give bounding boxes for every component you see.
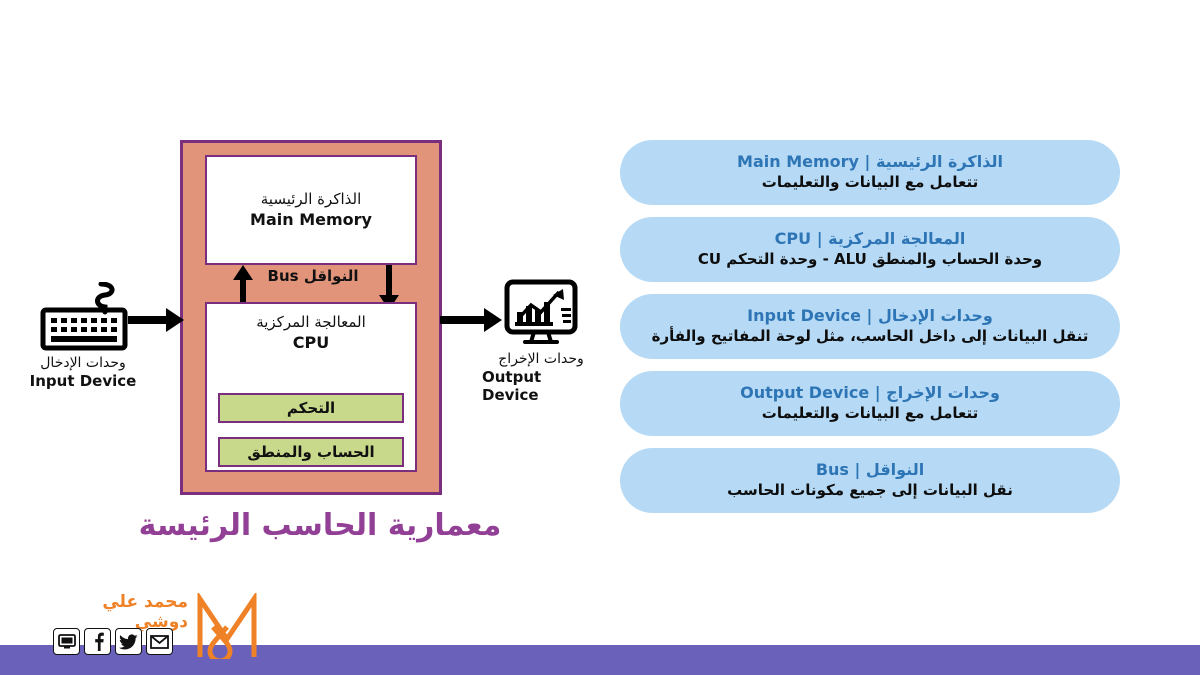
twitter-icon[interactable] — [115, 628, 142, 655]
legend-head: وحدات الإدخال | Input Device — [747, 306, 993, 327]
legend-item-output-device[interactable]: وحدات الإخراج | Output Device تتعامل مع … — [620, 371, 1120, 436]
legend-body: تنقل البيانات إلى داخل الحاسب، مثل لوحة … — [652, 327, 1089, 347]
input-device-label-en: Input Device — [30, 372, 137, 390]
legend-item-cpu[interactable]: المعالجة المركزية | CPU وحدة الحساب والم… — [620, 217, 1120, 282]
legend-body: تتعامل مع البيانات والتعليمات — [762, 173, 978, 193]
bus-label-en: Bus — [268, 267, 299, 285]
legend-body: نقل البيانات إلى جميع مكونات الحاسب — [727, 481, 1013, 501]
legend-head: النواقل | Bus — [816, 460, 924, 481]
legend-item-bus[interactable]: النواقل | Bus نقل البيانات إلى جميع مكون… — [620, 448, 1120, 513]
monitor-chart-icon — [501, 278, 581, 348]
output-device-label-en: Output Device — [482, 368, 600, 404]
main-memory-box: الذاكرة الرئيسية Main Memory — [205, 155, 417, 265]
facebook-icon[interactable] — [84, 628, 111, 655]
author-name: محمد علي دوشي — [58, 592, 188, 632]
legend-head: المعالجة المركزية | CPU — [775, 229, 966, 250]
keyboard-icon — [37, 282, 129, 352]
bus-label: النواقل Bus — [258, 268, 368, 285]
main-memory-label-ar: الذاكرة الرئيسية — [261, 190, 362, 209]
output-device-label-ar: وحدات الإخراج — [498, 351, 583, 368]
legend-item-main-memory[interactable]: الذاكرة الرئيسية | Main Memory تتعامل مع… — [620, 140, 1120, 205]
legend-head: وحدات الإخراج | Output Device — [740, 383, 1000, 404]
input-device-group: وحدات الإدخال Input Device — [22, 282, 144, 390]
footer-bar — [0, 645, 1200, 675]
output-device-group: وحدات الإخراج Output Device — [482, 278, 600, 404]
cpu-label-ar: المعالجة المركزية — [256, 313, 366, 332]
legend-head: الذاكرة الرئيسية | Main Memory — [737, 152, 1003, 173]
legend-body: وحدة الحساب والمنطق ALU - وحدة التحكم CU — [698, 250, 1042, 270]
legend-body: تتعامل مع البيانات والتعليمات — [762, 404, 978, 424]
main-memory-label-en: Main Memory — [250, 210, 372, 230]
bus-label-ar: النواقل — [304, 267, 359, 285]
alu-unit-box: الحساب والمنطق — [218, 437, 404, 467]
diagram-title: معمارية الحاسب الرئيسة — [120, 508, 520, 543]
cpu-label-en: CPU — [293, 333, 329, 353]
slide-root: الذاكرة الرئيسية Main Memory النواقل Bus… — [0, 0, 1200, 675]
email-icon[interactable] — [146, 628, 173, 655]
website-monitor-icon[interactable] — [53, 628, 80, 655]
social-icons — [53, 628, 173, 655]
control-unit-box: التحكم — [218, 393, 404, 423]
input-device-label-ar: وحدات الإدخال — [40, 355, 125, 372]
legend-list: الذاكرة الرئيسية | Main Memory تتعامل مع… — [620, 140, 1120, 525]
m-monogram-logo — [196, 593, 258, 659]
legend-item-input-device[interactable]: وحدات الإدخال | Input Device تنقل البيان… — [620, 294, 1120, 359]
